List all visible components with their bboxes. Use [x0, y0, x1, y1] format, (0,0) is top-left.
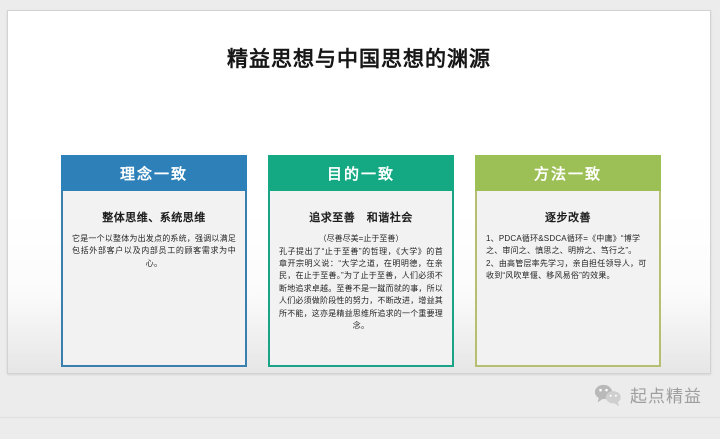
- card-note-purpose: （尽善尽美=止于至善）: [279, 233, 443, 245]
- card-text-method: 1、PDCA循环&SDCA循环=《中庸》“博学之、审问之、慎思之、明辨之、笃行之…: [486, 233, 650, 283]
- card-header-principle: 理念一致: [61, 155, 247, 191]
- footer-brand[interactable]: 起点精益: [593, 382, 702, 407]
- footer-bar: 起点精益: [0, 376, 720, 439]
- card-body-purpose: 追求至善 和谐社会 （尽善尽美=止于至善） 孔子提出了“止于至善”的哲理，《大学…: [268, 191, 454, 367]
- card-subtitle-purpose: 追求至善 和谐社会: [279, 209, 443, 225]
- card-body-principle: 整体思维、系统思维 它是一个以整体为出发点的系统，强调以满足包括外部客户以及内部…: [61, 191, 247, 367]
- footer-brand-label: 起点精益: [630, 382, 702, 407]
- footer-divider: [0, 417, 720, 418]
- card-text-principle: 它是一个以整体为出发点的系统，强调以满足包括外部客户以及内部员工的顾客需求为中心…: [72, 233, 236, 270]
- card-header-purpose: 目的一致: [268, 155, 454, 191]
- card-subtitle-principle: 整体思维、系统思维: [72, 209, 236, 225]
- concept-card-row: 理念一致 整体思维、系统思维 它是一个以整体为出发点的系统，强调以满足包括外部客…: [61, 155, 661, 367]
- concept-card-method[interactable]: 方法一致 逐步改善 1、PDCA循环&SDCA循环=《中庸》“博学之、审问之、慎…: [475, 155, 661, 367]
- page-title: 精益思想与中国思想的渊源: [8, 47, 710, 72]
- card-subtitle-method: 逐步改善: [486, 209, 650, 225]
- card-header-method: 方法一致: [475, 155, 661, 191]
- card-text-purpose: 孔子提出了“止于至善”的哲理，《大学》的首章开宗明义说：“大学之道，在明明德，在…: [279, 246, 443, 333]
- concept-card-purpose[interactable]: 目的一致 追求至善 和谐社会 （尽善尽美=止于至善） 孔子提出了“止于至善”的哲…: [268, 155, 454, 367]
- card-body-method: 逐步改善 1、PDCA循环&SDCA循环=《中庸》“博学之、审问之、慎思之、明辨…: [475, 191, 661, 367]
- screenshot-root: 精益思想与中国思想的渊源 理念一致 整体思维、系统思维 它是一个以整体为出发点的…: [0, 0, 720, 439]
- concept-card-principle[interactable]: 理念一致 整体思维、系统思维 它是一个以整体为出发点的系统，强调以满足包括外部客…: [61, 155, 247, 367]
- slide-canvas: 精益思想与中国思想的渊源 理念一致 整体思维、系统思维 它是一个以整体为出发点的…: [7, 10, 711, 374]
- wechat-icon: [593, 383, 623, 407]
